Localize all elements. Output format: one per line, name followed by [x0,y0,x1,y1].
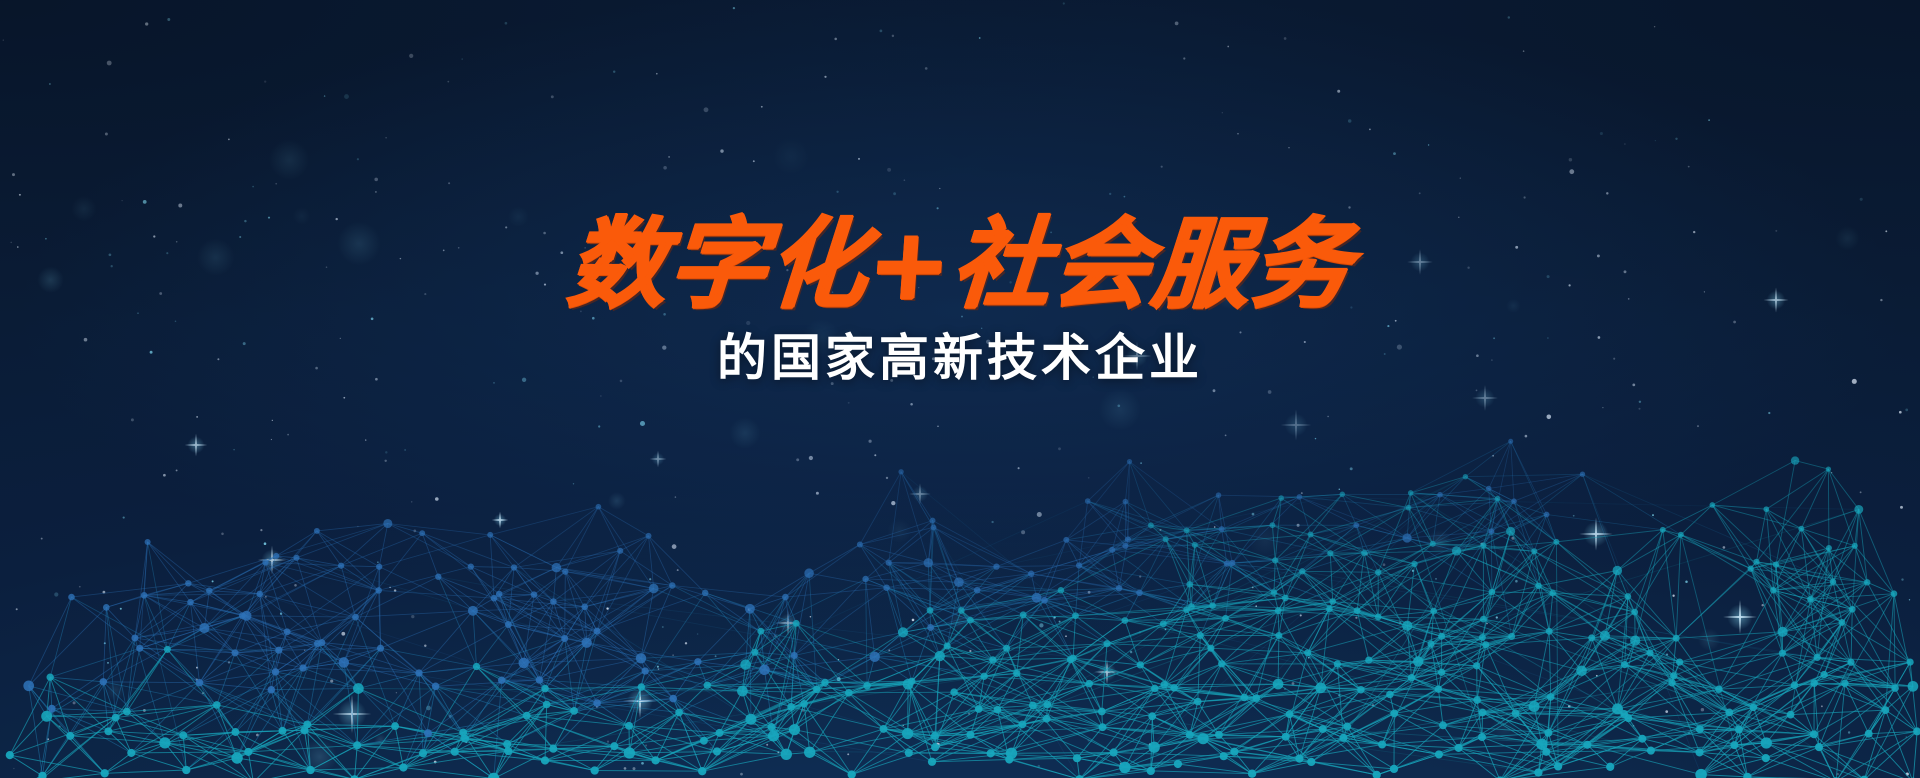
background-gradient [0,0,1920,778]
banner-text-block: 数字化+社会服务 的国家高新技术企业 [0,216,1920,385]
page-subtitle: 的国家高新技术企业 [0,330,1920,385]
hero-banner: 数字化+社会服务 的国家高新技术企业 [0,0,1920,778]
page-title: 数字化+社会服务 [564,216,1355,316]
